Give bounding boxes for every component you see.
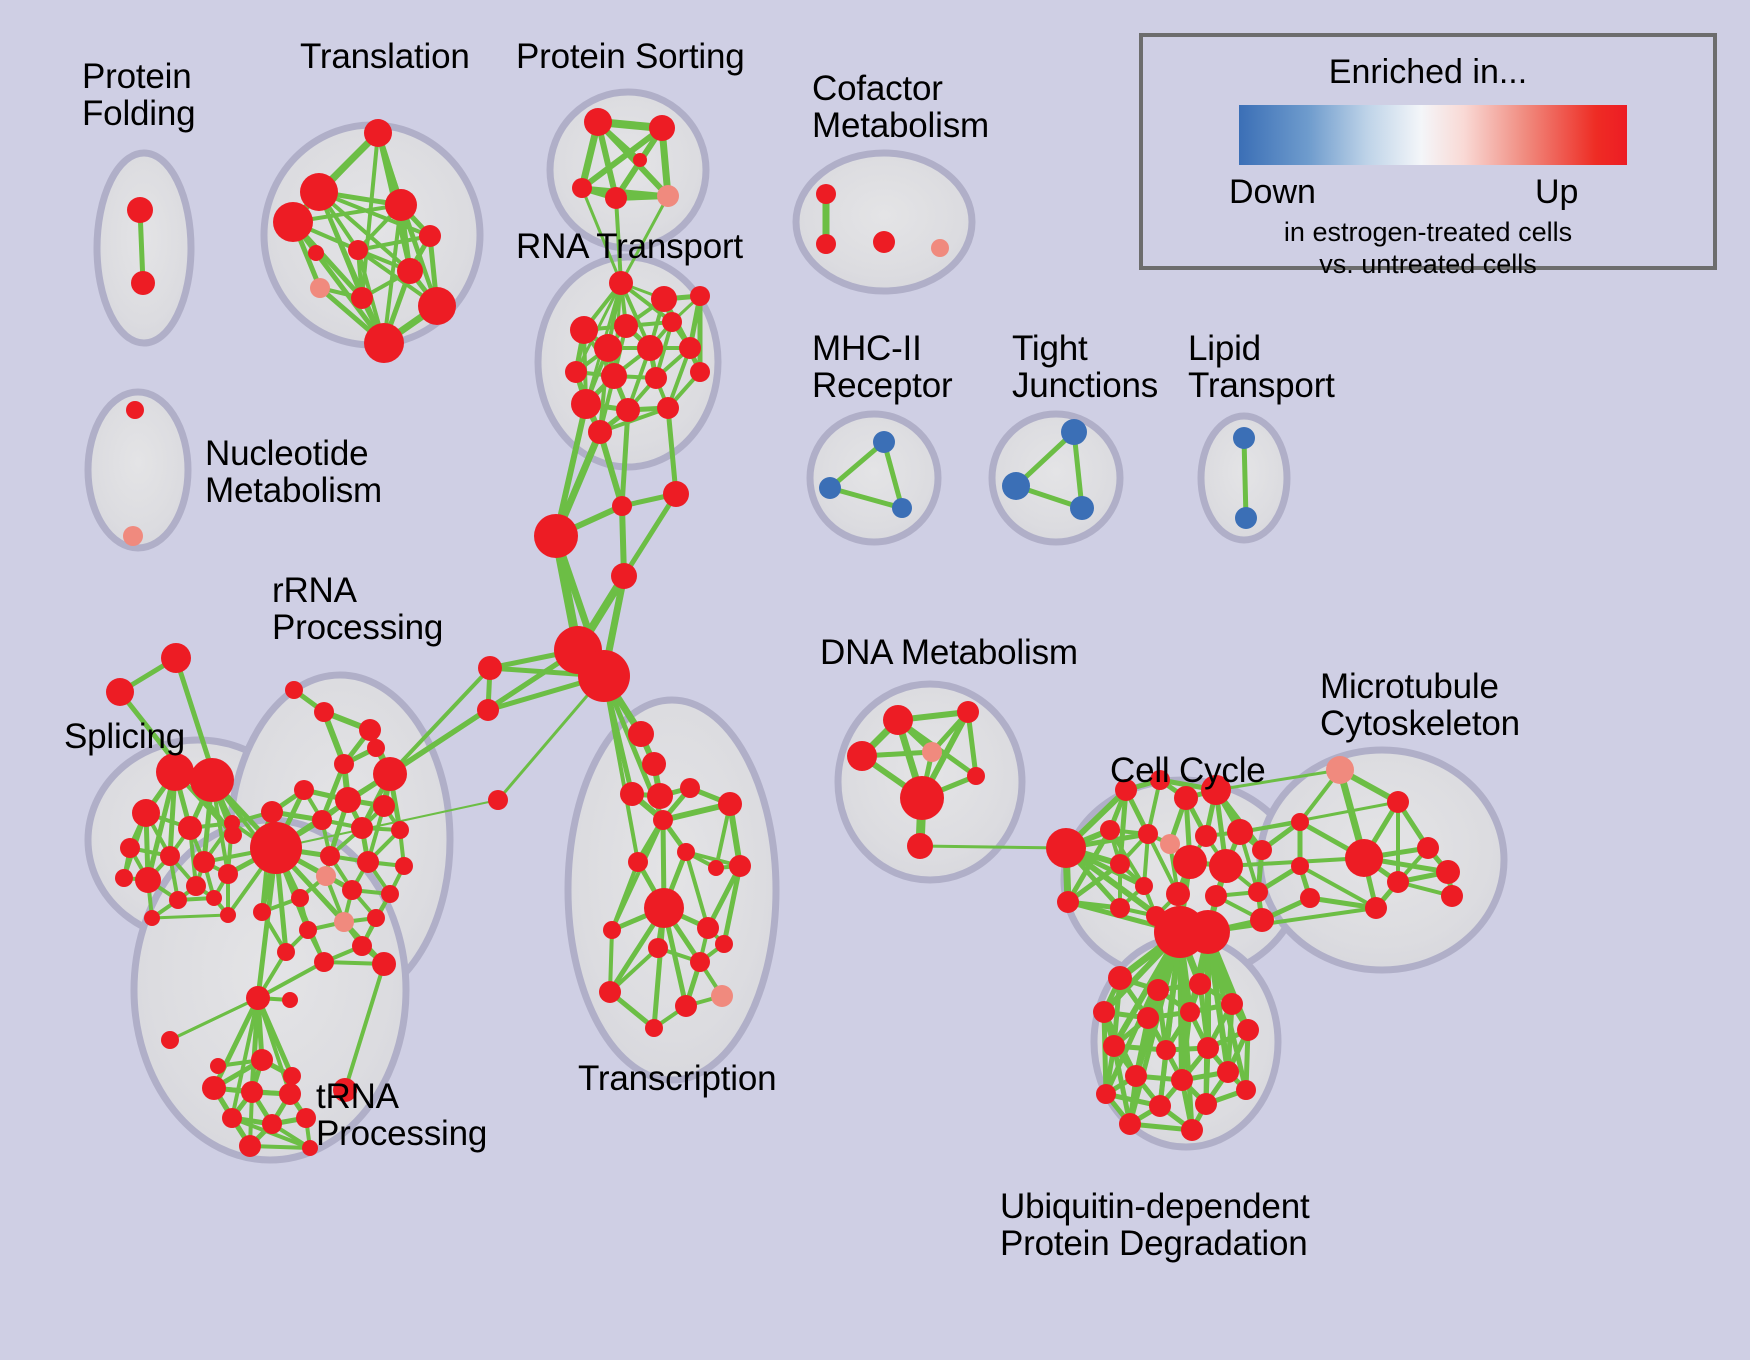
network-node[interactable] bbox=[1057, 891, 1079, 913]
network-node[interactable] bbox=[647, 783, 673, 809]
network-node[interactable] bbox=[1156, 1040, 1176, 1060]
network-node[interactable] bbox=[391, 821, 409, 839]
network-node[interactable] bbox=[283, 1067, 301, 1085]
network-node[interactable] bbox=[1093, 1001, 1115, 1023]
network-node[interactable] bbox=[351, 817, 373, 839]
network-node[interactable] bbox=[967, 767, 985, 785]
network-node[interactable] bbox=[819, 477, 841, 499]
network-node[interactable] bbox=[690, 952, 710, 972]
legend-subtitle-line-1: in estrogen-treated cells bbox=[1143, 217, 1713, 249]
network-node[interactable] bbox=[299, 921, 317, 939]
network-node[interactable] bbox=[250, 822, 302, 874]
network-node[interactable] bbox=[729, 855, 751, 877]
network-node[interactable] bbox=[628, 852, 648, 872]
network-node[interactable] bbox=[628, 721, 654, 747]
network-node[interactable] bbox=[616, 398, 640, 422]
network-node[interactable] bbox=[320, 846, 340, 866]
network-node[interactable] bbox=[478, 656, 502, 680]
network-node[interactable] bbox=[333, 1078, 357, 1102]
network-node[interactable] bbox=[657, 185, 679, 207]
network-node[interactable] bbox=[1387, 871, 1409, 893]
network-node[interactable] bbox=[316, 866, 336, 886]
network-node[interactable] bbox=[1180, 1002, 1200, 1022]
network-node[interactable] bbox=[651, 286, 677, 312]
network-node[interactable] bbox=[679, 337, 701, 359]
network-node[interactable] bbox=[285, 681, 303, 699]
network-node[interactable] bbox=[1150, 770, 1170, 790]
network-node[interactable] bbox=[1291, 857, 1309, 875]
network-node[interactable] bbox=[614, 314, 638, 338]
network-node[interactable] bbox=[1345, 839, 1383, 877]
network-node[interactable] bbox=[653, 810, 673, 830]
network-node[interactable] bbox=[334, 912, 354, 932]
network-node[interactable] bbox=[675, 995, 697, 1017]
network-node[interactable] bbox=[572, 178, 592, 198]
network-node[interactable] bbox=[1103, 1035, 1125, 1057]
network-node[interactable] bbox=[273, 202, 313, 242]
network-node[interactable] bbox=[1166, 882, 1190, 906]
network-node[interactable] bbox=[633, 153, 647, 167]
network-node[interactable] bbox=[126, 401, 144, 419]
network-node[interactable] bbox=[132, 799, 160, 827]
network-node[interactable] bbox=[649, 115, 675, 141]
network-node[interactable] bbox=[488, 790, 508, 810]
network-node[interactable] bbox=[697, 917, 719, 939]
network-node[interactable] bbox=[206, 890, 222, 906]
network-node[interactable] bbox=[1119, 1113, 1141, 1135]
network-node[interactable] bbox=[1110, 898, 1130, 918]
network-node[interactable] bbox=[1061, 419, 1087, 445]
network-node[interactable] bbox=[385, 189, 417, 221]
network-node[interactable] bbox=[1365, 897, 1387, 919]
network-node[interactable] bbox=[477, 699, 499, 721]
network-node[interactable] bbox=[612, 496, 632, 516]
network-node[interactable] bbox=[1100, 820, 1120, 840]
network-node[interactable] bbox=[1250, 908, 1274, 932]
network-node[interactable] bbox=[239, 1135, 261, 1157]
network-node[interactable] bbox=[193, 851, 215, 873]
network-node[interactable] bbox=[611, 563, 637, 589]
network-node[interactable] bbox=[135, 867, 161, 893]
network-node[interactable] bbox=[657, 397, 679, 419]
legend-high-label: Up bbox=[1535, 173, 1578, 212]
network-node[interactable] bbox=[1436, 860, 1460, 884]
network-node[interactable] bbox=[156, 753, 194, 791]
network-node[interactable] bbox=[690, 362, 710, 382]
network-node[interactable] bbox=[359, 719, 381, 741]
network-node[interactable] bbox=[1147, 979, 1169, 1001]
network-node[interactable] bbox=[708, 860, 724, 876]
network-node[interactable] bbox=[282, 992, 298, 1008]
network-node[interactable] bbox=[210, 1058, 226, 1074]
network-node[interactable] bbox=[873, 231, 895, 253]
network-node[interactable] bbox=[160, 846, 180, 866]
network-node[interactable] bbox=[578, 650, 630, 702]
network-node[interactable] bbox=[115, 869, 133, 887]
network-node[interactable] bbox=[310, 278, 330, 298]
network-node[interactable] bbox=[1186, 910, 1230, 954]
legend-subtitle: in estrogen-treated cells vs. untreated … bbox=[1143, 217, 1713, 280]
network-node[interactable] bbox=[373, 795, 395, 817]
network-node[interactable] bbox=[161, 1031, 179, 1049]
network-node[interactable] bbox=[603, 921, 621, 939]
network-node[interactable] bbox=[261, 801, 283, 823]
network-node[interactable] bbox=[144, 910, 160, 926]
network-node[interactable] bbox=[277, 943, 295, 961]
network-node[interactable] bbox=[588, 420, 612, 444]
network-node[interactable] bbox=[342, 880, 362, 900]
network-node[interactable] bbox=[1197, 1037, 1219, 1059]
network-node[interactable] bbox=[637, 335, 663, 361]
network-node[interactable] bbox=[348, 240, 368, 260]
network-node[interactable] bbox=[302, 1140, 318, 1156]
network-edge bbox=[1244, 438, 1246, 518]
network-node[interactable] bbox=[1235, 507, 1257, 529]
network-node[interactable] bbox=[1096, 1084, 1116, 1104]
network-node[interactable] bbox=[1189, 973, 1211, 995]
network-node[interactable] bbox=[645, 367, 667, 389]
legend-title: Enriched in... bbox=[1143, 53, 1713, 92]
network-node[interactable] bbox=[190, 758, 234, 802]
network-node[interactable] bbox=[300, 173, 338, 211]
network-node[interactable] bbox=[1137, 1007, 1159, 1029]
network-node[interactable] bbox=[357, 851, 379, 873]
network-node[interactable] bbox=[218, 864, 238, 884]
enrichment-map-figure: Protein FoldingTranslationProtein Sortin… bbox=[0, 0, 1750, 1360]
legend-panel: Enriched in... Down Up in estrogen-treat… bbox=[1139, 33, 1717, 270]
network-node[interactable] bbox=[584, 108, 612, 136]
network-node[interactable] bbox=[663, 481, 689, 507]
network-node[interactable] bbox=[1125, 1065, 1147, 1087]
network-node[interactable] bbox=[1149, 1095, 1171, 1117]
network-node[interactable] bbox=[296, 1108, 316, 1128]
network-node[interactable] bbox=[202, 1076, 226, 1100]
network-node[interactable] bbox=[246, 986, 270, 1010]
network-node[interactable] bbox=[690, 286, 710, 306]
network-node[interactable] bbox=[570, 316, 598, 344]
network-node[interactable] bbox=[1108, 966, 1132, 990]
network-node[interactable] bbox=[220, 907, 236, 923]
network-node[interactable] bbox=[620, 782, 644, 806]
network-node[interactable] bbox=[294, 780, 314, 800]
network-node[interactable] bbox=[169, 891, 187, 909]
network-node[interactable] bbox=[642, 752, 666, 776]
network-node[interactable] bbox=[816, 234, 836, 254]
network-node[interactable] bbox=[1115, 779, 1137, 801]
network-node[interactable] bbox=[395, 857, 413, 875]
network-node[interactable] bbox=[1326, 756, 1354, 784]
network-node[interactable] bbox=[178, 816, 202, 840]
network-node[interactable] bbox=[314, 952, 334, 972]
network-node[interactable] bbox=[711, 985, 733, 1007]
network-node[interactable] bbox=[931, 239, 949, 257]
network-node[interactable] bbox=[1070, 496, 1094, 520]
network-node[interactable] bbox=[419, 225, 441, 247]
network-node[interactable] bbox=[1002, 472, 1030, 500]
network-node[interactable] bbox=[335, 787, 361, 813]
network-node[interactable] bbox=[601, 363, 627, 389]
network-node[interactable] bbox=[907, 833, 933, 859]
network-node[interactable] bbox=[892, 498, 912, 518]
network-node[interactable] bbox=[312, 810, 332, 830]
legend-low-label: Down bbox=[1229, 173, 1316, 212]
network-node[interactable] bbox=[381, 885, 399, 903]
network-edge bbox=[920, 846, 1066, 848]
network-node[interactable] bbox=[253, 903, 271, 921]
network-node[interactable] bbox=[131, 271, 155, 295]
network-node[interactable] bbox=[715, 935, 733, 953]
network-node[interactable] bbox=[718, 792, 742, 816]
network-node[interactable] bbox=[251, 1049, 273, 1071]
network-node[interactable] bbox=[262, 1114, 282, 1134]
network-node[interactable] bbox=[1046, 828, 1086, 868]
network-node[interactable] bbox=[648, 938, 668, 958]
legend-color-gradient-bar bbox=[1239, 105, 1627, 165]
network-node[interactable] bbox=[1236, 1080, 1256, 1100]
network-node[interactable] bbox=[1417, 837, 1439, 859]
network-node[interactable] bbox=[609, 271, 633, 295]
network-node[interactable] bbox=[1138, 824, 1158, 844]
network-node[interactable] bbox=[1209, 849, 1243, 883]
network-node[interactable] bbox=[241, 1081, 263, 1103]
network-node[interactable] bbox=[367, 739, 385, 757]
network-node[interactable] bbox=[1248, 882, 1268, 902]
network-node[interactable] bbox=[1195, 825, 1217, 847]
network-node[interactable] bbox=[900, 776, 944, 820]
network-node[interactable] bbox=[1237, 1019, 1259, 1041]
network-node[interactable] bbox=[367, 909, 385, 927]
network-node[interactable] bbox=[1252, 840, 1272, 860]
network-node[interactable] bbox=[534, 514, 578, 558]
network-node[interactable] bbox=[1291, 813, 1309, 831]
cofactor-hull bbox=[796, 153, 972, 291]
network-node[interactable] bbox=[847, 741, 877, 771]
network-node[interactable] bbox=[314, 702, 334, 722]
network-node[interactable] bbox=[106, 678, 134, 706]
network-node[interactable] bbox=[1441, 885, 1463, 907]
network-node[interactable] bbox=[1135, 877, 1153, 895]
network-node[interactable] bbox=[397, 258, 423, 284]
network-node[interactable] bbox=[883, 705, 913, 735]
network-node[interactable] bbox=[123, 526, 143, 546]
network-node[interactable] bbox=[127, 197, 153, 223]
network-node[interactable] bbox=[1300, 888, 1320, 908]
network-node[interactable] bbox=[1217, 1061, 1239, 1083]
network-node[interactable] bbox=[1233, 427, 1255, 449]
network-node[interactable] bbox=[1221, 993, 1243, 1015]
network-node[interactable] bbox=[364, 323, 404, 363]
network-node[interactable] bbox=[1201, 775, 1231, 805]
network-node[interactable] bbox=[644, 888, 684, 928]
network-node[interactable] bbox=[1173, 845, 1207, 879]
network-node[interactable] bbox=[186, 876, 206, 896]
network-node[interactable] bbox=[222, 1108, 242, 1128]
network-node[interactable] bbox=[418, 287, 456, 325]
network-node[interactable] bbox=[1195, 1093, 1217, 1115]
network-node[interactable] bbox=[1205, 885, 1227, 907]
network-node[interactable] bbox=[1387, 791, 1409, 813]
network-node[interactable] bbox=[605, 187, 627, 209]
network-node[interactable] bbox=[1171, 1069, 1193, 1091]
network-node[interactable] bbox=[352, 936, 372, 956]
network-node[interactable] bbox=[120, 838, 140, 858]
network-node[interactable] bbox=[1181, 1119, 1203, 1141]
network-node[interactable] bbox=[957, 701, 979, 723]
network-node[interactable] bbox=[599, 981, 621, 1003]
network-node[interactable] bbox=[291, 889, 309, 907]
network-node[interactable] bbox=[1174, 786, 1198, 810]
network-node[interactable] bbox=[645, 1019, 663, 1037]
network-node[interactable] bbox=[279, 1083, 301, 1105]
network-node[interactable] bbox=[224, 815, 240, 831]
network-node[interactable] bbox=[680, 778, 700, 798]
network-node[interactable] bbox=[571, 389, 601, 419]
network-node[interactable] bbox=[594, 334, 622, 362]
network-node[interactable] bbox=[351, 287, 373, 309]
network-node[interactable] bbox=[1110, 854, 1130, 874]
network-node[interactable] bbox=[308, 245, 324, 261]
protein-sorting-hull bbox=[550, 92, 706, 248]
network-node[interactable] bbox=[372, 952, 396, 976]
network-node[interactable] bbox=[334, 754, 354, 774]
network-node[interactable] bbox=[922, 742, 942, 762]
network-node[interactable] bbox=[565, 361, 587, 383]
network-node[interactable] bbox=[873, 431, 895, 453]
network-node[interactable] bbox=[662, 312, 682, 332]
network-node[interactable] bbox=[816, 184, 836, 204]
network-node[interactable] bbox=[364, 119, 392, 147]
network-node[interactable] bbox=[1160, 834, 1180, 854]
network-node[interactable] bbox=[373, 757, 407, 791]
network-node[interactable] bbox=[1227, 819, 1253, 845]
network-node[interactable] bbox=[161, 643, 191, 673]
legend-subtitle-line-2: vs. untreated cells bbox=[1143, 249, 1713, 281]
network-node[interactable] bbox=[677, 843, 695, 861]
